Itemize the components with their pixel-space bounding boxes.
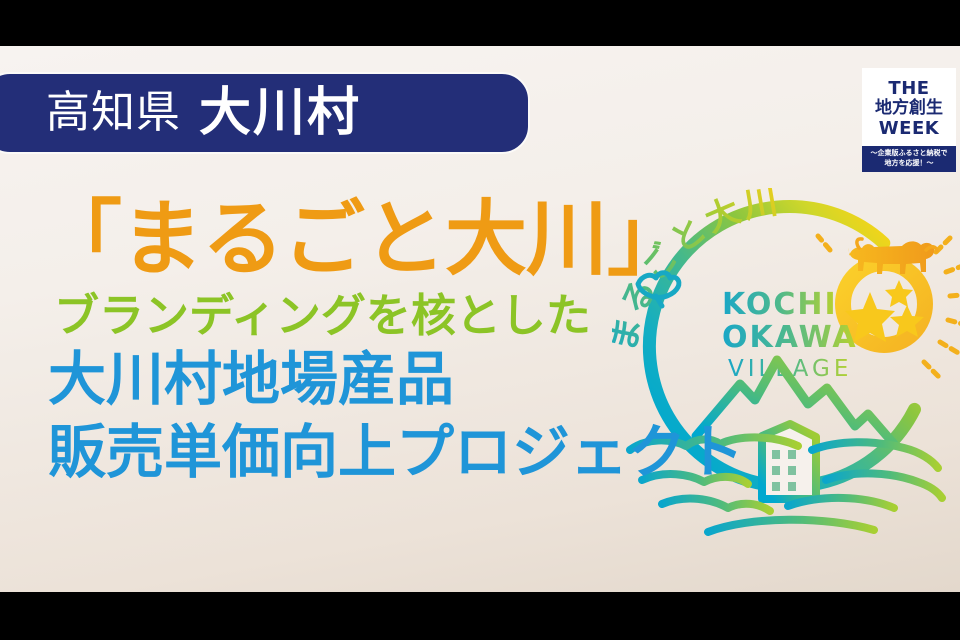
slide-canvas: 高知県 大川村 「まるごと大川」 ブランディングを核とした 大川村地場産品 販売… (0, 46, 960, 592)
prefecture-village-badge: 高知県 大川村 (0, 72, 530, 154)
project-line-2: 販売単価向上プロジェクト (48, 418, 680, 486)
logo-center-text: KOCHI OKAWA VILLAGE (722, 287, 858, 382)
event-badge-line-1: THE (888, 79, 929, 99)
logo-center-line-2: OKAWA (722, 320, 858, 355)
event-badge: THE 地方創生 WEEK 〜企業版ふるさと納税で 地方を応援！〜 (862, 68, 956, 172)
project-line-1: 大川村地場産品 (48, 345, 680, 413)
prefecture-label: 高知県 (46, 91, 181, 135)
event-badge-line-3: WEEK (879, 119, 939, 139)
project-title: 「まるごと大川」 (40, 198, 680, 282)
letterbox-bottom (0, 592, 960, 640)
event-badge-footer: 〜企業版ふるさと納税で 地方を応援！〜 (862, 146, 956, 172)
logo-center-line-1: KOCHI (722, 287, 838, 322)
event-badge-main: THE 地方創生 WEEK (862, 68, 956, 146)
project-subtitle: ブランディングを核とした (54, 290, 680, 342)
event-badge-footer-line-2: 地方を応援！〜 (864, 159, 954, 168)
village-label: 大川村 (199, 87, 361, 139)
headline-block: 「まるごと大川」 ブランディングを核とした 大川村地場産品 販売単価向上プロジェ… (40, 198, 680, 486)
letterbox-top (0, 0, 960, 46)
slide-root: 高知県 大川村 「まるごと大川」 ブランディングを核とした 大川村地場産品 販売… (0, 0, 960, 640)
event-badge-line-2: 地方創生 (875, 99, 943, 119)
event-badge-footer-line-1: 〜企業版ふるさと納税で (864, 149, 954, 158)
